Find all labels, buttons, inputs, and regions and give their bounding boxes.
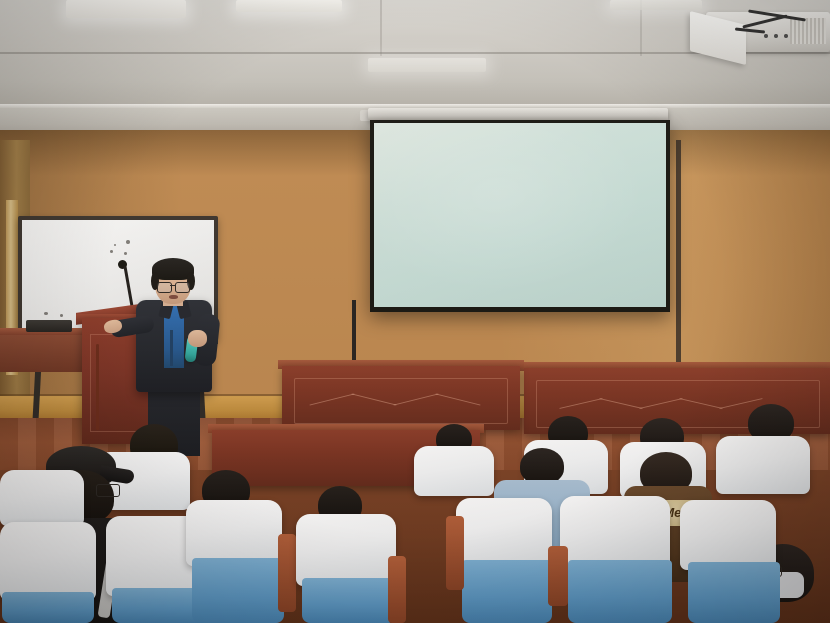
student-head-denim [520, 448, 564, 484]
projector-port-icon [784, 34, 788, 38]
audience-seat [414, 446, 494, 496]
audience-seat [680, 500, 776, 570]
audience-seat [456, 498, 552, 566]
ceiling-light-icon [66, 0, 186, 18]
presenter-mouth [169, 295, 178, 299]
projector-vent-icon [790, 18, 826, 44]
audience-seat [0, 470, 84, 526]
seat-armrest [278, 534, 296, 612]
audience-seat-base [688, 562, 780, 623]
glasses-bridge-icon [170, 285, 176, 286]
audience-seat-base [302, 578, 396, 623]
audience-seat-base [462, 560, 552, 623]
laptop [26, 320, 72, 332]
glasses-icon [96, 484, 120, 497]
audience-seat [560, 496, 670, 568]
audience-seat [186, 500, 282, 566]
seat-armrest [388, 556, 406, 623]
glasses-icon [157, 282, 172, 293]
audience-seat [0, 522, 96, 600]
whiteboard-mark [110, 250, 113, 253]
projection-screen: 1. 基于捕捉活泼中间体的新型多组分反应 13 3rd Comp. 1st Co… [374, 123, 666, 307]
ceiling-light-icon [236, 0, 342, 12]
whiteboard-mark [44, 312, 48, 315]
ceiling-panel-seam [380, 0, 382, 56]
audience-seat-base [568, 560, 672, 623]
whiteboard-mark [60, 314, 63, 317]
stage-desk-panel [294, 378, 508, 424]
audience-seat-base [192, 558, 284, 623]
whiteboard-mark [126, 240, 130, 244]
presenter-right-hand [188, 330, 207, 347]
audience-seat [296, 514, 396, 586]
seat-armrest [446, 516, 464, 590]
whiteboard-mark [124, 252, 127, 255]
audience-seat [716, 436, 810, 494]
podium-cable [96, 344, 99, 430]
glasses-icon [175, 282, 190, 293]
lecture-hall-photo: 1. 基于捕捉活泼中间体的新型多组分反应 13 3rd Comp. 1st Co… [0, 0, 830, 623]
whiteboard-mark [114, 244, 116, 246]
ceiling-light-icon [368, 58, 486, 72]
ceiling-light-icon [610, 0, 702, 10]
presenter-lanyard [170, 330, 173, 366]
side-desk [0, 332, 88, 372]
seat-armrest [548, 546, 568, 606]
projector-port-icon [764, 34, 768, 38]
audience-seat-base [2, 592, 94, 623]
projector-port-icon [774, 34, 778, 38]
